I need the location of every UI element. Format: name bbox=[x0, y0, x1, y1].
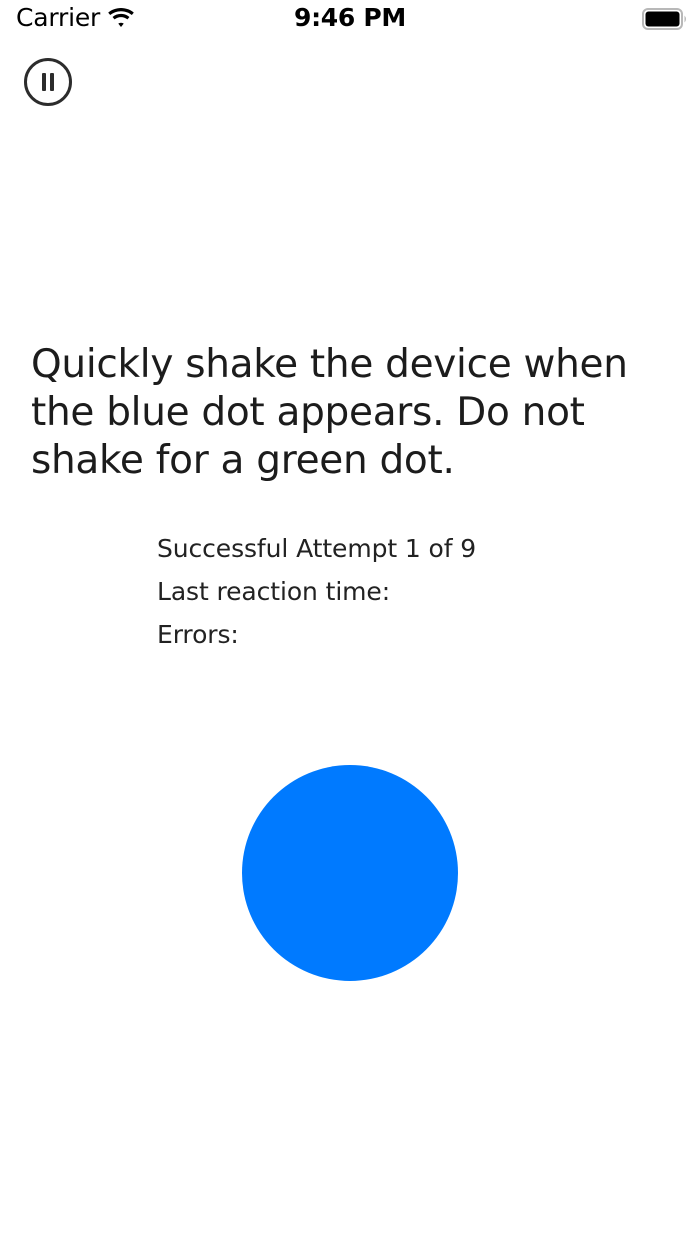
successful-attempt-line: Successful Attempt 1 of 9 bbox=[157, 527, 637, 570]
pause-icon bbox=[23, 57, 73, 107]
stats-block: Successful Attempt 1 of 9 Last reaction … bbox=[157, 527, 637, 656]
errors-line: Errors: bbox=[157, 613, 637, 656]
blue-dot[interactable] bbox=[242, 765, 458, 981]
last-reaction-time-line: Last reaction time: bbox=[157, 570, 637, 613]
app-screen: Carrier 9:46 PM bbox=[0, 0, 700, 1244]
battery-full-icon bbox=[642, 8, 688, 34]
status-bar-right bbox=[642, 8, 688, 34]
status-bar-time: 9:46 PM bbox=[0, 4, 700, 32]
instruction-text: Quickly shake the device when the blue d… bbox=[31, 341, 673, 485]
status-bar: Carrier 9:46 PM bbox=[0, 0, 700, 44]
pause-button[interactable] bbox=[23, 57, 73, 107]
